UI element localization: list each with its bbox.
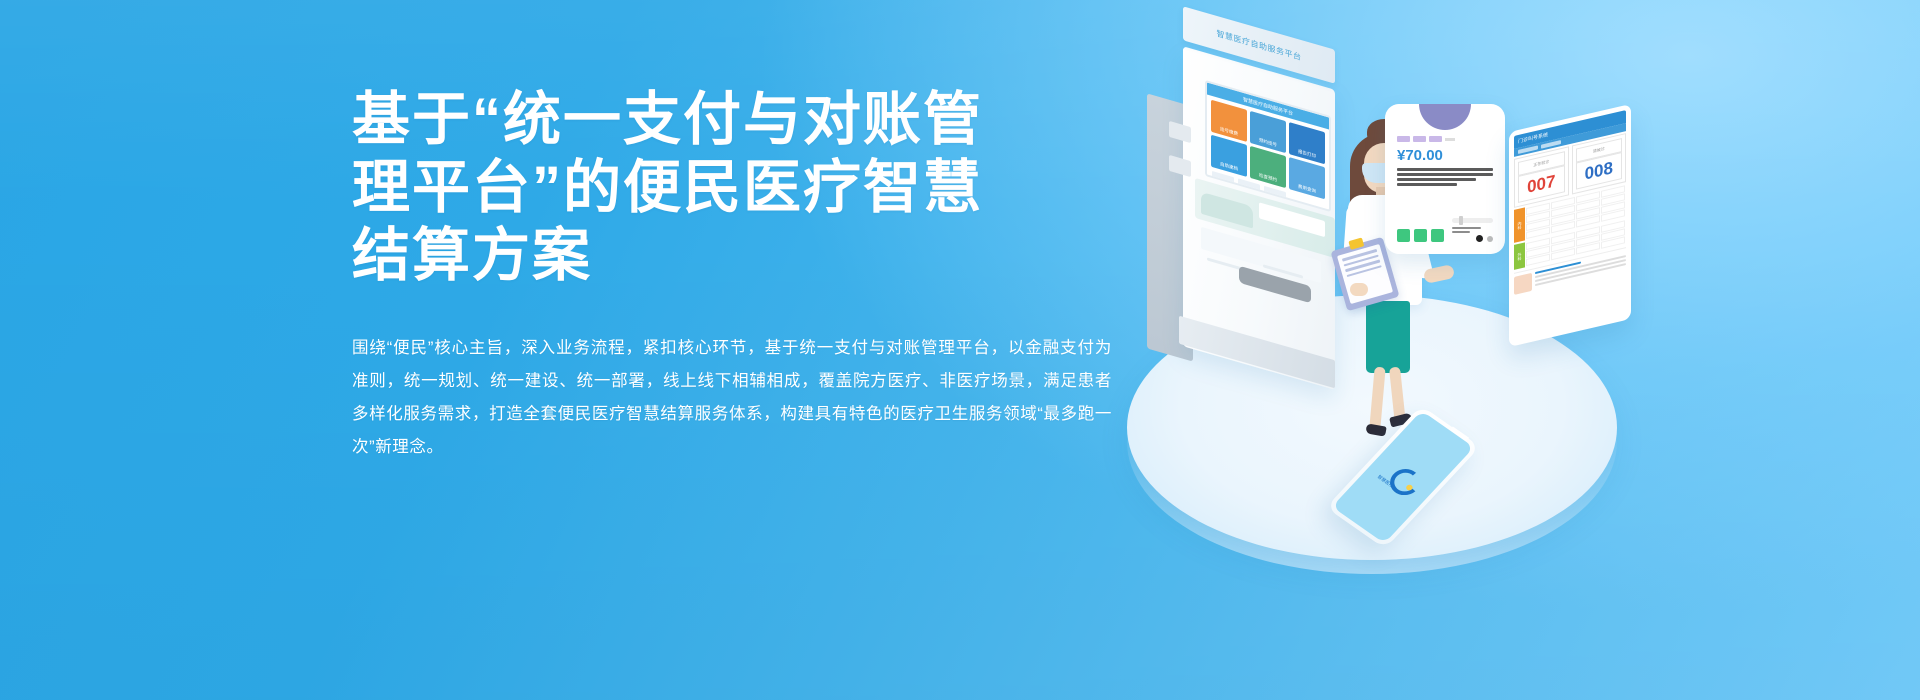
status-indicator (1414, 229, 1427, 242)
payment-amount: ¥70.00 (1397, 147, 1493, 164)
status-indicator (1397, 229, 1410, 242)
receipt-bar (1397, 168, 1493, 171)
payment-terminal-meta (1452, 218, 1493, 242)
payment-terminal-screen: ¥70.00 (1397, 136, 1493, 206)
page-title: 基于“统一支付与对账管 理平台”的便民医疗智慧 结算方案 (352, 86, 1122, 290)
receipt-bar (1397, 173, 1493, 176)
progress-track (1452, 218, 1493, 223)
hero-description: 围绕“便民”核心主旨，深入业务流程，紧扣核心环节，基于统一支付与对账管理平台，以… (352, 332, 1112, 464)
queue-subheader-bar (1518, 145, 1538, 154)
payment-terminal-icon: ¥70.00 (1385, 104, 1505, 254)
status-indicator (1431, 229, 1444, 242)
meta-line (1452, 231, 1470, 233)
receipt-chip-light (1445, 138, 1455, 141)
headline-line-2: 理平台”的便民医疗智慧 (352, 154, 1122, 222)
receipt-bar (1397, 183, 1457, 186)
queue-section-tag: 外科 (1514, 242, 1525, 270)
hero-copy: 基于“统一支付与对账管 理平台”的便民医疗智慧 结算方案 围绕“便民”核心主旨，… (352, 86, 1122, 464)
hero-illustration: 智慧医疗自助服务平台 智慧医疗自助服务平台 挂号缴费 预约挂号 报告打印 自助建… (1085, 20, 1705, 580)
button-dot-group (1452, 235, 1493, 242)
receipt-chip (1397, 136, 1410, 142)
headline-line-3: 结算方案 (352, 222, 1122, 290)
receipt-bar (1397, 178, 1476, 181)
kiosk-tile: 检查预约 (1250, 146, 1286, 188)
app-logo-icon: 智慧医疗 (1383, 460, 1423, 493)
receipt-barcode (1397, 168, 1493, 186)
payment-terminal-controls (1397, 218, 1493, 242)
doctor-hand-left (1350, 283, 1368, 296)
queue-display-tablet: 门诊叫号系统 正在就诊 007 请候诊 008 内科 (1509, 104, 1631, 347)
progress-knob (1459, 216, 1463, 225)
doctor-skirt (1366, 301, 1410, 373)
meta-line (1452, 227, 1481, 229)
kiosk-tile: 自助建档 (1211, 135, 1247, 177)
doctor-avatar (1514, 273, 1532, 295)
kiosk-tile: 费用查询 (1289, 157, 1325, 199)
queue-section-tag: 内科 (1514, 207, 1525, 243)
queue-subheader-bar (1541, 140, 1561, 149)
receipt-chip (1429, 136, 1442, 142)
logo-ring (1390, 469, 1421, 495)
receipt-chip (1413, 136, 1426, 142)
hero-banner: 基于“统一支付与对账管 理平台”的便民医疗智慧 结算方案 围绕“便民”核心主旨，… (0, 0, 1920, 700)
receipt-chip-row (1397, 136, 1493, 142)
button-dot (1487, 236, 1493, 242)
headline-line-1: 基于“统一支付与对账管 (352, 86, 1122, 154)
hero-description-text: 围绕“便民”核心主旨，深入业务流程，紧扣核心环节，基于统一支付与对账管理平台，以… (352, 332, 1112, 464)
button-dot (1476, 235, 1483, 242)
status-indicator-group (1397, 229, 1444, 242)
